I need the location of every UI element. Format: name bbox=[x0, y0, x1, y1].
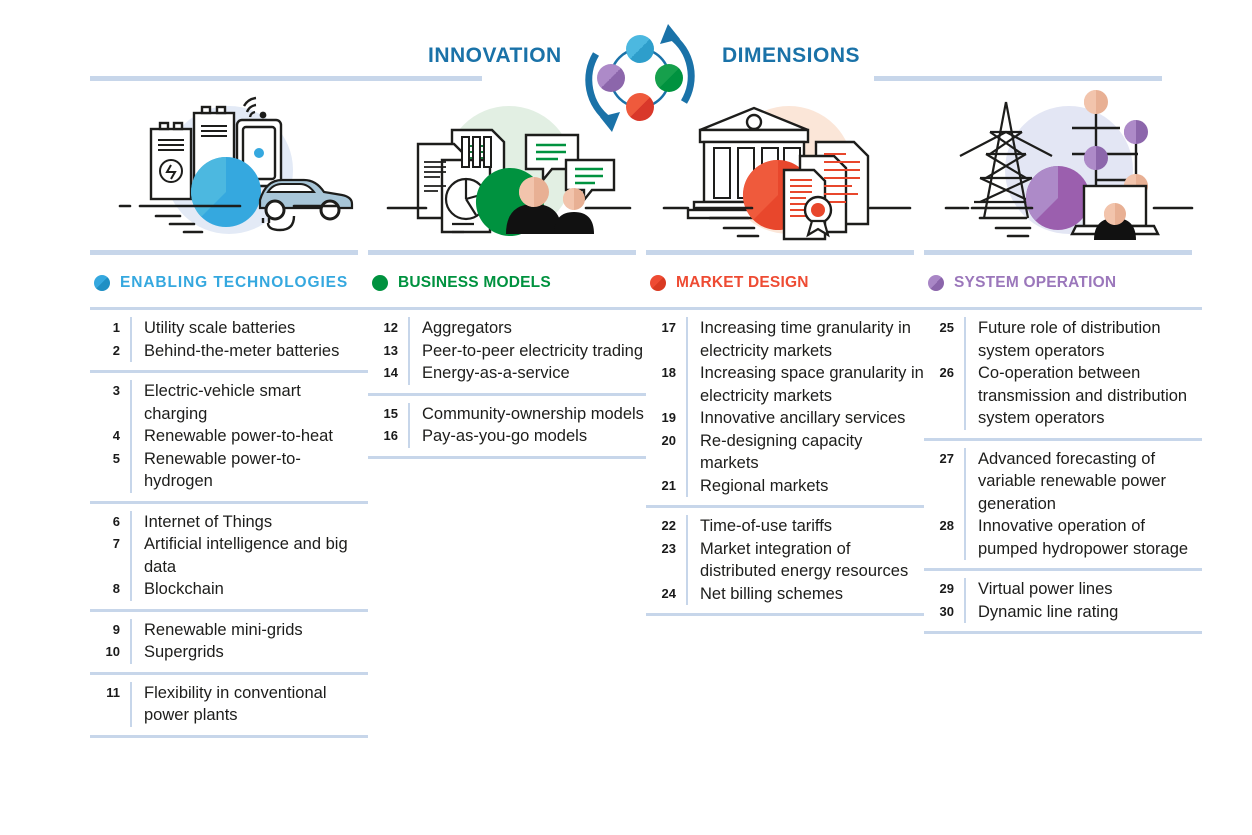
item-number: 22 bbox=[646, 515, 686, 538]
item-label: Regional markets bbox=[686, 475, 924, 498]
list-item[interactable]: 5Renewable power-to-hydrogen bbox=[90, 448, 368, 493]
item-number: 21 bbox=[646, 475, 686, 498]
list-item[interactable]: 18Increasing space granularity in electr… bbox=[646, 362, 924, 407]
list-item[interactable]: 1Utility scale batteries bbox=[90, 317, 368, 340]
item-label: Advanced forecasting of variable renewab… bbox=[964, 448, 1202, 516]
item-number: 30 bbox=[924, 601, 964, 624]
item-label: Increasing time granularity in electrici… bbox=[686, 317, 924, 362]
item-number: 11 bbox=[90, 682, 130, 705]
list-item[interactable]: 27Advanced forecasting of variable renew… bbox=[924, 448, 1202, 516]
item-number: 20 bbox=[646, 430, 686, 453]
item-group: 1Utility scale batteries2Behind-the-mete… bbox=[90, 307, 368, 373]
item-number: 6 bbox=[90, 511, 130, 534]
bullet-icon-system-operation bbox=[928, 275, 944, 291]
list-item[interactable]: 19Innovative ancillary services bbox=[646, 407, 924, 430]
list-item[interactable]: 14Energy-as-a-service bbox=[368, 362, 646, 385]
list-item[interactable]: 20Re-designing capacity markets bbox=[646, 430, 924, 475]
list-item[interactable]: 15Community-ownership models bbox=[368, 403, 646, 426]
bullet-icon-enabling-technologies bbox=[94, 275, 110, 291]
item-group: 9Renewable mini-grids10Supergrids bbox=[90, 609, 368, 675]
item-label: Utility scale batteries bbox=[130, 317, 368, 340]
list-item[interactable]: 4Renewable power-to-heat bbox=[90, 425, 368, 448]
list-item[interactable]: 7Artificial intelligence and big data bbox=[90, 533, 368, 578]
item-label: Co-operation between transmission and di… bbox=[964, 362, 1202, 430]
item-group: 27Advanced forecasting of variable renew… bbox=[924, 438, 1202, 572]
list-item[interactable]: 17Increasing time granularity in electri… bbox=[646, 317, 924, 362]
item-number: 29 bbox=[924, 578, 964, 601]
item-label: Re-designing capacity markets bbox=[686, 430, 924, 475]
list-item[interactable]: 23Market integration of distributed ener… bbox=[646, 538, 924, 583]
item-label: Pay-as-you-go models bbox=[408, 425, 646, 448]
item-label: Renewable power-to-heat bbox=[130, 425, 368, 448]
item-number: 1 bbox=[90, 317, 130, 340]
item-group: 3Electric-vehicle smart charging4Renewab… bbox=[90, 370, 368, 504]
item-label: Electric-vehicle smart charging bbox=[130, 380, 368, 425]
item-number: 13 bbox=[368, 340, 408, 363]
item-number: 23 bbox=[646, 538, 686, 561]
item-label: Artificial intelligence and big data bbox=[130, 533, 368, 578]
list-item[interactable]: 6Internet of Things bbox=[90, 511, 368, 534]
item-number: 19 bbox=[646, 407, 686, 430]
item-label: Renewable power-to-hydrogen bbox=[130, 448, 368, 493]
item-number: 26 bbox=[924, 362, 964, 385]
item-number: 18 bbox=[646, 362, 686, 385]
item-group: 25Future role of distribution system ope… bbox=[924, 307, 1202, 441]
list-item[interactable]: 8Blockchain bbox=[90, 578, 368, 601]
header-title-dimensions: DIMENSIONS bbox=[722, 44, 860, 68]
item-number: 17 bbox=[646, 317, 686, 340]
item-number: 5 bbox=[90, 448, 130, 471]
item-number: 7 bbox=[90, 533, 130, 556]
item-label: Energy-as-a-service bbox=[408, 362, 646, 385]
item-number: 14 bbox=[368, 362, 408, 385]
column-title-market-design: MARKET DESIGN bbox=[676, 274, 809, 292]
item-label: Aggregators bbox=[408, 317, 646, 340]
column-title-enabling-technologies: ENABLING TECHNOLOGIES bbox=[120, 274, 348, 292]
illustration-enabling-technologies bbox=[98, 82, 360, 250]
item-number: 27 bbox=[924, 448, 964, 471]
item-number: 15 bbox=[368, 403, 408, 426]
list-item[interactable]: 13Peer-to-peer electricity trading bbox=[368, 340, 646, 363]
column-header-enabling-technologies: ENABLING TECHNOLOGIES bbox=[90, 255, 368, 310]
item-label: Increasing space granularity in electric… bbox=[686, 362, 924, 407]
item-label: Internet of Things bbox=[130, 511, 368, 534]
item-number: 3 bbox=[90, 380, 130, 403]
column-title-business-models: BUSINESS MODELS bbox=[398, 274, 551, 292]
item-label: Behind-the-meter batteries bbox=[130, 340, 368, 363]
item-label: Supergrids bbox=[130, 641, 368, 664]
item-group: 11Flexibility in conventional power plan… bbox=[90, 672, 368, 738]
list-item[interactable]: 22Time-of-use tariffs bbox=[646, 515, 924, 538]
item-label: Flexibility in conventional power plants bbox=[130, 682, 368, 727]
list-item[interactable]: 12Aggregators bbox=[368, 317, 646, 340]
list-item[interactable]: 26Co-operation between transmission and … bbox=[924, 362, 1202, 430]
list-item[interactable]: 25Future role of distribution system ope… bbox=[924, 317, 1202, 362]
list-item[interactable]: 10Supergrids bbox=[90, 641, 368, 664]
column-business-models: BUSINESS MODELS12Aggregators13Peer-to-pe… bbox=[368, 250, 646, 459]
item-number: 12 bbox=[368, 317, 408, 340]
header-band: INNOVATION DIMENSIONS bbox=[0, 0, 1252, 80]
item-label: Dynamic line rating bbox=[964, 601, 1202, 624]
item-group: 17Increasing time granularity in electri… bbox=[646, 307, 924, 508]
column-header-market-design: MARKET DESIGN bbox=[646, 255, 924, 310]
item-label: Time-of-use tariffs bbox=[686, 515, 924, 538]
list-item[interactable]: 3Electric-vehicle smart charging bbox=[90, 380, 368, 425]
item-number: 16 bbox=[368, 425, 408, 448]
item-label: Peer-to-peer electricity trading bbox=[408, 340, 646, 363]
list-item[interactable]: 16Pay-as-you-go models bbox=[368, 425, 646, 448]
item-label: Innovative ancillary services bbox=[686, 407, 924, 430]
item-group: 29Virtual power lines30Dynamic line rati… bbox=[924, 568, 1202, 634]
column-header-business-models: BUSINESS MODELS bbox=[368, 255, 646, 310]
item-group: 6Internet of Things7Artificial intellige… bbox=[90, 501, 368, 612]
list-item[interactable]: 11Flexibility in conventional power plan… bbox=[90, 682, 368, 727]
column-title-system-operation: SYSTEM OPERATION bbox=[954, 274, 1116, 292]
innovation-dimensions-columns: ENABLING TECHNOLOGIES1Utility scale batt… bbox=[0, 250, 1252, 835]
item-label: Innovative operation of pumped hydropowe… bbox=[964, 515, 1202, 560]
list-item[interactable]: 24Net billing schemes bbox=[646, 583, 924, 606]
enabling-technologies-node bbox=[626, 35, 654, 63]
item-number: 28 bbox=[924, 515, 964, 538]
column-enabling-technologies: ENABLING TECHNOLOGIES1Utility scale batt… bbox=[90, 250, 368, 738]
item-label: Renewable mini-grids bbox=[130, 619, 368, 642]
item-label: Blockchain bbox=[130, 578, 368, 601]
illustration-system-operation bbox=[938, 82, 1200, 250]
item-group: 15Community-ownership models16Pay-as-you… bbox=[368, 393, 646, 459]
column-market-design: MARKET DESIGN17Increasing time granulari… bbox=[646, 250, 924, 616]
item-group: 12Aggregators13Peer-to-peer electricity … bbox=[368, 307, 646, 396]
item-number: 2 bbox=[90, 340, 130, 363]
illustration-market-design bbox=[658, 82, 920, 250]
item-number: 8 bbox=[90, 578, 130, 601]
column-header-system-operation: SYSTEM OPERATION bbox=[924, 255, 1202, 310]
bullet-icon-market-design bbox=[650, 275, 666, 291]
list-item[interactable]: 21Regional markets bbox=[646, 475, 924, 498]
illustration-business-models bbox=[378, 82, 640, 250]
illustration-band bbox=[0, 82, 1252, 250]
bullet-icon-business-models bbox=[372, 275, 388, 291]
item-number: 9 bbox=[90, 619, 130, 642]
column-system-operation: SYSTEM OPERATION25Future role of distrib… bbox=[924, 250, 1202, 634]
item-label: Net billing schemes bbox=[686, 583, 924, 606]
list-item[interactable]: 28Innovative operation of pumped hydropo… bbox=[924, 515, 1202, 560]
list-item[interactable]: 9Renewable mini-grids bbox=[90, 619, 368, 642]
item-number: 4 bbox=[90, 425, 130, 448]
item-label: Virtual power lines bbox=[964, 578, 1202, 601]
item-label: Future role of distribution system opera… bbox=[964, 317, 1202, 362]
item-label: Market integration of distributed energy… bbox=[686, 538, 924, 583]
item-number: 24 bbox=[646, 583, 686, 606]
list-item[interactable]: 2Behind-the-meter batteries bbox=[90, 340, 368, 363]
item-label: Community-ownership models bbox=[408, 403, 646, 426]
item-number: 10 bbox=[90, 641, 130, 664]
list-item[interactable]: 30Dynamic line rating bbox=[924, 601, 1202, 624]
header-title-innovation: INNOVATION bbox=[428, 44, 562, 68]
header-rule-right bbox=[874, 76, 1162, 81]
item-group: 22Time-of-use tariffs23Market integratio… bbox=[646, 505, 924, 616]
header-rule-left bbox=[90, 76, 482, 81]
item-number: 25 bbox=[924, 317, 964, 340]
list-item[interactable]: 29Virtual power lines bbox=[924, 578, 1202, 601]
